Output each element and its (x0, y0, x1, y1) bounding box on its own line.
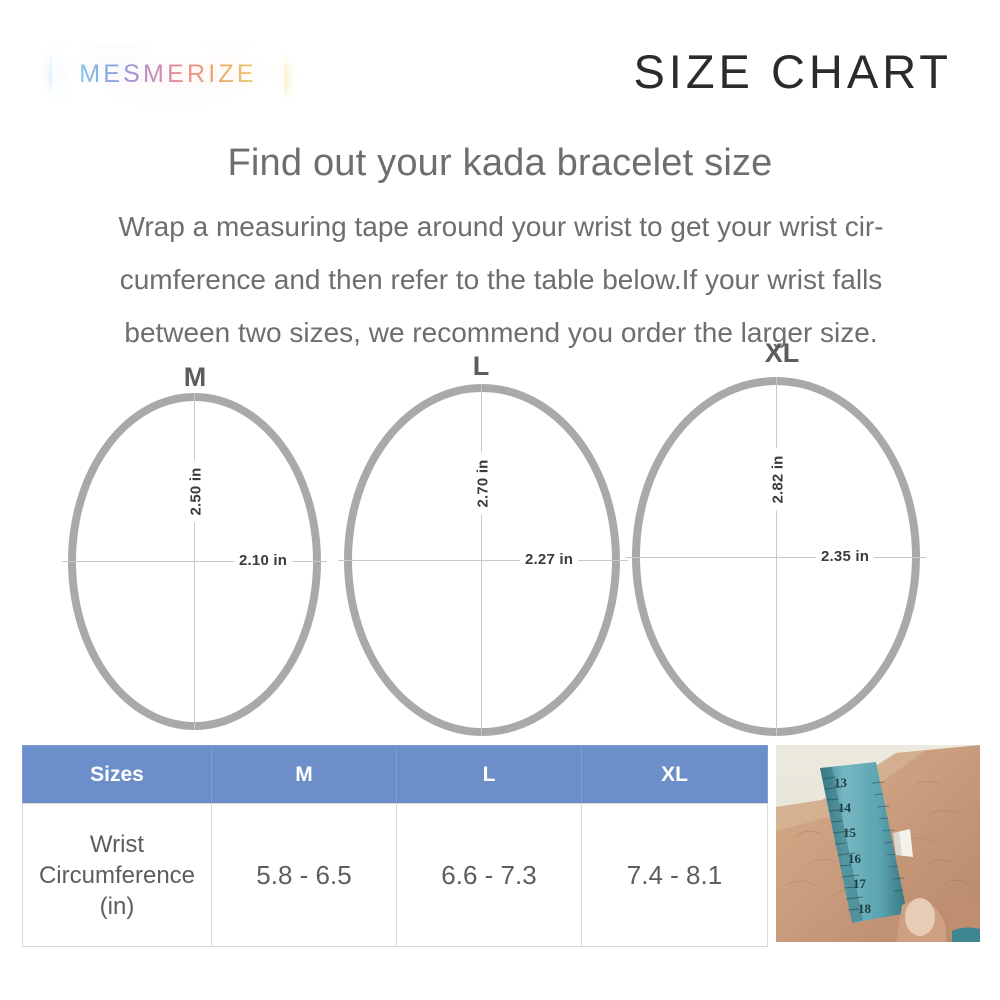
diagram-height-label-m: 2.50 in (185, 461, 208, 523)
size-diagram-l: L 2.70 in 2.27 in (338, 342, 628, 737)
table-header-m: M (212, 746, 397, 804)
row-label-line: (in) (24, 891, 210, 922)
table-header-sizes: Sizes (23, 746, 212, 804)
brand-logo: MESMERIZE (52, 48, 284, 100)
size-diagram-xl: XL 2.82 in 2.35 in (626, 335, 926, 735)
page-title: SIZE CHART (633, 44, 952, 99)
tape-mark-18: 18 (858, 901, 872, 916)
table-header-l: L (397, 746, 582, 804)
tape-mark-15: 15 (843, 825, 857, 840)
diagram-horizontal-guide-xl (626, 557, 926, 558)
table-header-row: Sizes M L XL (23, 746, 768, 804)
size-table: Sizes M L XL Wrist Circumference (in) 5.… (22, 745, 768, 947)
diagram-label-m: M (172, 362, 218, 393)
diagram-width-label-xl: 2.35 in (816, 547, 874, 566)
cell-wrist-circumference-xl: 7.4 - 8.1 (582, 804, 768, 947)
logo-plate: MESMERIZE (52, 48, 284, 100)
diagram-height-label-l: 2.70 in (472, 453, 495, 515)
diagram-label-xl: XL (754, 338, 810, 369)
diagram-width-label-l: 2.27 in (520, 550, 578, 569)
diagram-label-l: L (458, 351, 504, 382)
wrist-measurement-photo: 13 14 15 16 17 18 (776, 745, 980, 942)
intro-paragraph-line: Wrap a measuring tape around your wrist … (48, 200, 954, 253)
cell-wrist-circumference-l: 6.6 - 7.3 (397, 804, 582, 947)
headline: Find out your kada bracelet size (0, 142, 1000, 185)
diagram-horizontal-guide-l (338, 560, 628, 561)
size-diagrams: M 2.50 in 2.10 in L 2.70 in 2.27 in XL 2… (0, 352, 1000, 742)
cell-wrist-circumference-m: 5.8 - 6.5 (212, 804, 397, 947)
tape-mark-14: 14 (838, 800, 852, 815)
table-row: Wrist Circumference (in) 5.8 - 6.5 6.6 -… (23, 804, 768, 947)
table-header-xl: XL (582, 746, 768, 804)
tape-mark-13: 13 (834, 775, 848, 790)
size-diagram-m: M 2.50 in 2.10 in (62, 352, 327, 737)
diagram-width-label-m: 2.10 in (234, 551, 292, 570)
row-label-line: Circumference (24, 860, 210, 891)
logo-text: MESMERIZE (79, 60, 256, 89)
tape-mark-17: 17 (853, 876, 867, 891)
intro-paragraph-line: cumference and then refer to the table b… (48, 253, 954, 306)
wrist-photo-illustration: 13 14 15 16 17 18 (776, 745, 980, 942)
size-chart-page: MESMERIZE SIZE CHART Find out your kada … (0, 0, 1000, 1000)
row-label-wrist-circumference: Wrist Circumference (in) (23, 804, 212, 947)
diagram-height-label-xl: 2.82 in (767, 449, 790, 511)
tape-mark-16: 16 (848, 851, 862, 866)
row-label-line: Wrist (24, 829, 210, 860)
